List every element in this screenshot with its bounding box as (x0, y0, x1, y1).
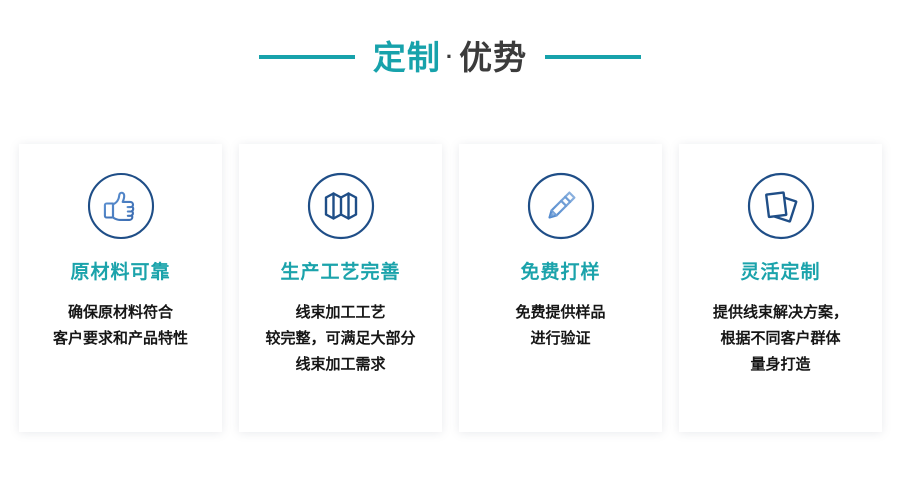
heading-text: 定制 · 优势 (373, 41, 527, 74)
stacked-cards-icon (746, 171, 816, 241)
feature-card-list: 原材料可靠 确保原材料符合 客户要求和产品特性 生产工艺完善 线束加工工艺 较完… (19, 144, 885, 432)
heading-primary-text: 定制 (373, 41, 441, 74)
heading-rule-left (259, 55, 355, 59)
feature-card[interactable]: 灵活定制 提供线束解决方案， 根据不同客户群体 量身打造 (679, 144, 882, 432)
card-body-line: 进行验证 (468, 326, 653, 352)
card-body: 提供线束解决方案， 根据不同客户群体 量身打造 (688, 300, 873, 378)
folded-map-icon (306, 171, 376, 241)
pencil-icon (526, 171, 596, 241)
thumbs-up-icon (86, 171, 156, 241)
card-body-line: 线束加工需求 (248, 352, 433, 378)
heading-rule-right (545, 55, 641, 59)
card-body-line: 确保原材料符合 (28, 300, 213, 326)
card-title: 免费打样 (520, 263, 600, 282)
card-title: 生产工艺完善 (280, 263, 400, 282)
card-body-line: 线束加工工艺 (248, 300, 433, 326)
card-body: 确保原材料符合 客户要求和产品特性 (28, 300, 213, 352)
card-body: 线束加工工艺 较完整，可满足大部分 线束加工需求 (248, 300, 433, 378)
card-body-line: 免费提供样品 (468, 300, 653, 326)
feature-card[interactable]: 免费打样 免费提供样品 进行验证 (459, 144, 662, 432)
card-body: 免费提供样品 进行验证 (468, 300, 653, 352)
heading-separator-dot: · (441, 46, 459, 68)
feature-card[interactable]: 原材料可靠 确保原材料符合 客户要求和产品特性 (19, 144, 222, 432)
heading-secondary-text: 优势 (459, 41, 527, 74)
card-title: 灵活定制 (740, 263, 820, 282)
card-title: 原材料可靠 (70, 263, 170, 282)
card-body-line: 提供线束解决方案， (688, 300, 873, 326)
card-body-line: 根据不同客户群体 (688, 326, 873, 352)
card-body-line: 较完整，可满足大部分 (248, 326, 433, 352)
card-body-line: 客户要求和产品特性 (28, 326, 213, 352)
section-heading: 定制 · 优势 (0, 28, 900, 86)
feature-card[interactable]: 生产工艺完善 线束加工工艺 较完整，可满足大部分 线束加工需求 (239, 144, 442, 432)
card-body-line: 量身打造 (688, 352, 873, 378)
